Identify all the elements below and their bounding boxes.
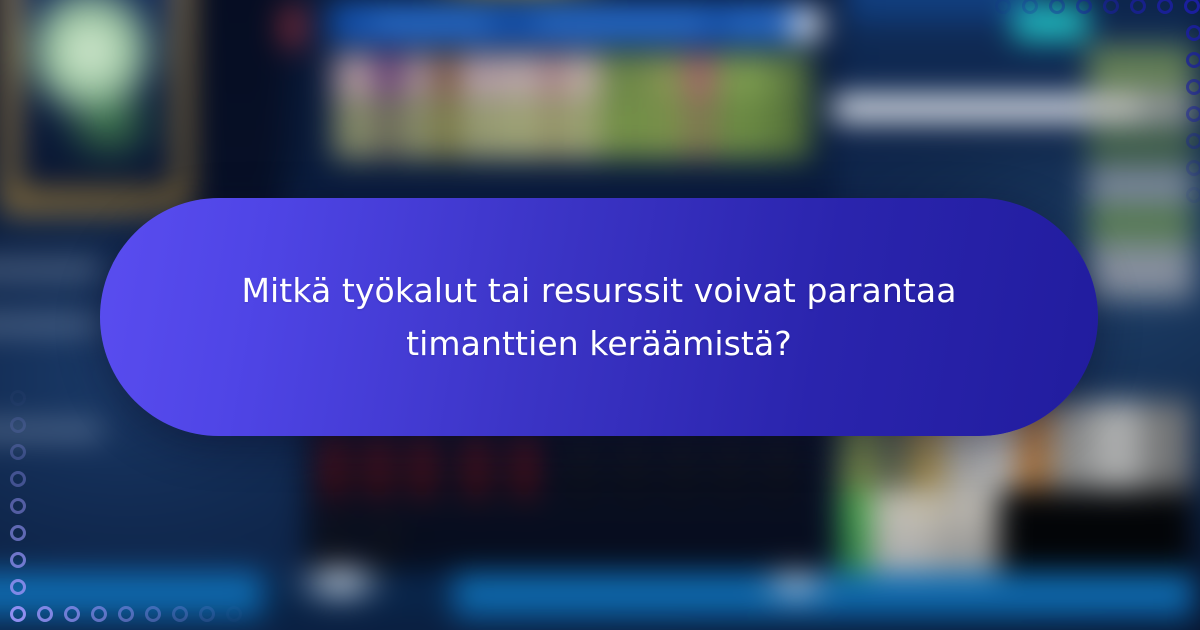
background-taskbar bbox=[0, 573, 1194, 620]
background-inventory-slot bbox=[719, 435, 742, 501]
background-taskbar-glow bbox=[759, 570, 833, 598]
background-red-accent bbox=[280, 2, 308, 51]
background-inventory-slot bbox=[570, 435, 593, 501]
background-content-grid-secondary bbox=[333, 98, 810, 159]
background-right-item-column bbox=[1088, 45, 1194, 299]
background-toolbar-segment bbox=[727, 13, 791, 36]
background-inventory-slot bbox=[513, 435, 536, 501]
background-blue-toolbar bbox=[330, 4, 812, 44]
background-desktop-label bbox=[0, 263, 102, 276]
background-desktop-label bbox=[0, 318, 102, 331]
background-right-blue-block bbox=[846, 0, 1037, 24]
background-inventory-slot bbox=[621, 435, 644, 501]
background-desktop-label bbox=[0, 424, 102, 437]
screenshot-canvas: Mitkä työkalut tai resurssit voivat para… bbox=[0, 0, 1200, 630]
background-inventory-slot bbox=[464, 435, 487, 501]
background-poster-frame bbox=[1, 0, 192, 214]
background-inventory-slot bbox=[322, 435, 345, 501]
background-toolbar-segment bbox=[536, 13, 706, 36]
background-cyan-accent bbox=[1013, 4, 1087, 40]
background-inventory-slot bbox=[670, 435, 693, 501]
background-bottom-inventory-row bbox=[840, 490, 999, 573]
background-poster-artwork bbox=[18, 0, 175, 189]
background-inventory-slot bbox=[367, 435, 390, 501]
question-card: Mitkä työkalut tai resurssit voivat para… bbox=[100, 198, 1098, 436]
question-text: Mitkä työkalut tai resurssit voivat para… bbox=[199, 264, 999, 371]
background-inventory-slot bbox=[372, 520, 395, 573]
background-toolbar-segment bbox=[372, 13, 489, 36]
background-white-chip bbox=[791, 11, 823, 39]
background-taskbar-glow bbox=[293, 566, 388, 598]
background-inventory-slot bbox=[411, 435, 434, 501]
background-inventory-slot bbox=[767, 435, 790, 501]
background-black-panel bbox=[999, 490, 1192, 573]
background-inventory-slot bbox=[322, 520, 345, 573]
